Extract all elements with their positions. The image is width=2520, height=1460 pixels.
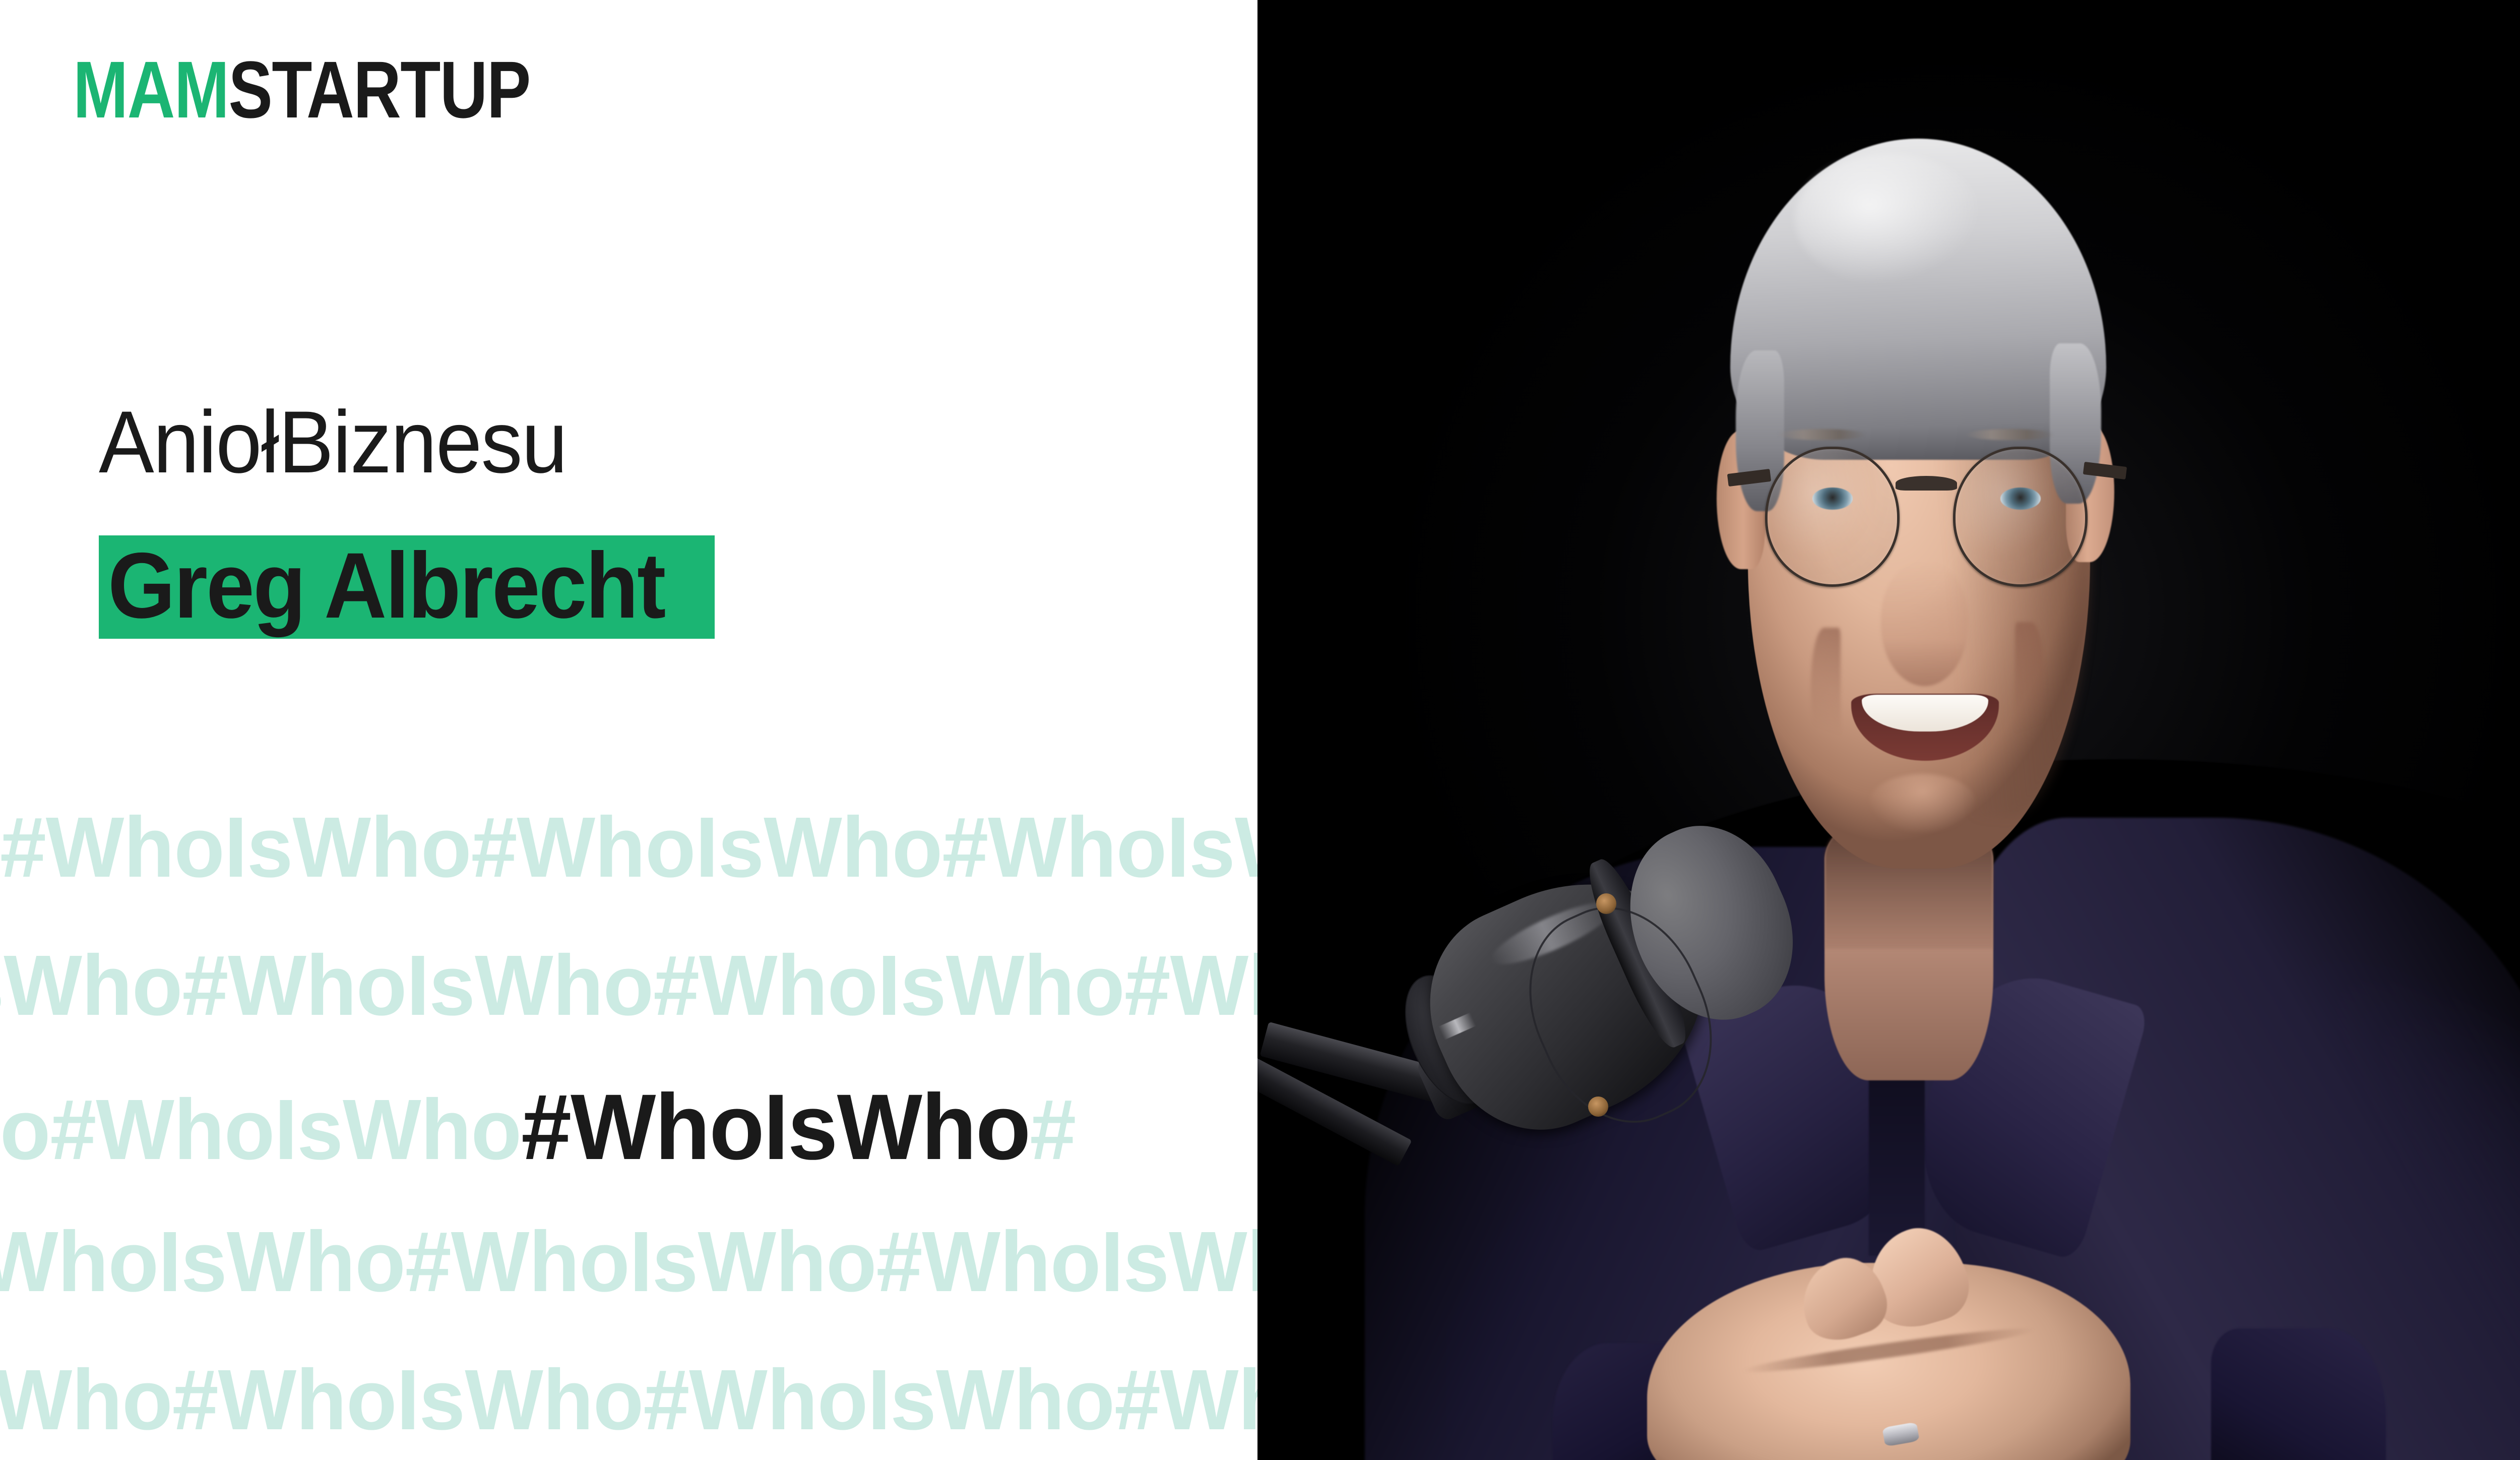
hashtag-highlight: #WhoIsWho <box>521 1075 1030 1179</box>
eye-left <box>1812 488 1853 509</box>
eyeglasses-lens-left <box>1765 447 1900 587</box>
eyeglasses-bridge <box>1896 476 1958 491</box>
logo-text-mam: MAM <box>73 44 228 135</box>
watermark-prefix: ho#WhoIsWho <box>0 1082 521 1178</box>
watermark-row: WhoIsWho#WhoIsWho#WhoIsWho#WhoIsWho <box>0 1219 1257 1305</box>
hashtag-watermark: #WhoIsWho#WhoIsWho#WhoIsWho#WhoIsWho oIs… <box>0 786 1257 1460</box>
episode-title-card: MAMSTARTUP AniołBiznesu Greg Albrecht #W… <box>0 0 2520 1460</box>
guest-role: AniołBiznesu <box>99 398 566 486</box>
chin <box>1869 774 1976 832</box>
watermark-row: IsWho#WhoIsWho#WhoIsWho#WhoIsWho <box>0 1357 1257 1443</box>
watermark-row: #WhoIsWho#WhoIsWho#WhoIsWho#WhoIsWho <box>0 805 1257 890</box>
watermark-row-highlighted: ho#WhoIsWho#WhoIsWho# <box>0 1081 1076 1174</box>
microphone-pivot-screw-top <box>1596 893 1616 914</box>
left-panel: MAMSTARTUP AniołBiznesu Greg Albrecht #W… <box>0 0 1257 1460</box>
watermark-suffix: # <box>1030 1082 1076 1178</box>
sleeve-right <box>2211 1328 2385 1460</box>
hair-highlight <box>1795 153 1983 285</box>
microphone-pivot-screw-bottom <box>1588 1097 1608 1117</box>
logo-text-startup: STARTUP <box>228 44 530 135</box>
nose <box>1881 562 1968 686</box>
guest-photo-panel <box>1257 0 2520 1460</box>
guest-portrait <box>1257 0 2520 1460</box>
guest-name: Greg Albrecht <box>108 538 665 634</box>
eyeglasses-lens-right <box>1953 447 2088 587</box>
mamstartup-logo[interactable]: MAMSTARTUP <box>73 49 530 130</box>
watermark-row: oIsWho#WhoIsWho#WhoIsWho#WhoIsWho <box>0 943 1257 1028</box>
guest-name-highlight: Greg Albrecht <box>99 535 715 639</box>
eye-right <box>2000 488 2041 509</box>
